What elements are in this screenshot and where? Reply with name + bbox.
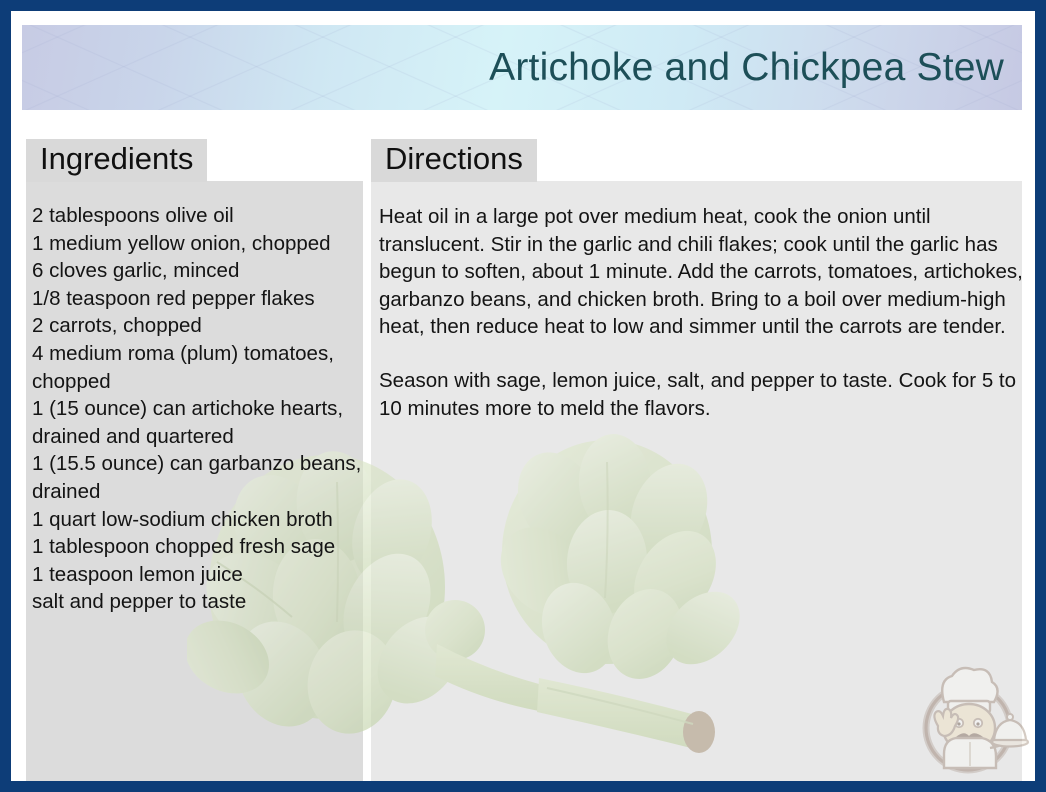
directions-text: Heat oil in a large pot over medium heat… [379, 203, 1027, 422]
ingredient-item: salt and pepper to taste [32, 588, 362, 616]
title-banner: Artichoke and Chickpea Stew [22, 25, 1022, 110]
ingredient-item: 1 (15 ounce) can artichoke hearts, drain… [32, 395, 362, 450]
ingredient-item: 6 cloves garlic, minced [32, 257, 362, 285]
ingredient-item: 4 medium roma (plum) tomatoes, chopped [32, 340, 362, 395]
ingredient-item: 2 carrots, chopped [32, 312, 362, 340]
chef-logo-icon [904, 656, 1032, 784]
recipe-card-page: Artichoke and Chickpea Stew [0, 0, 1046, 792]
ingredient-item: 2 tablespoons olive oil [32, 202, 362, 230]
ingredient-item: 1 teaspoon lemon juice [32, 561, 362, 589]
ingredients-heading: Ingredients [26, 139, 207, 182]
ingredient-item: 1 tablespoon chopped fresh sage [32, 533, 362, 561]
ingredients-list: 2 tablespoons olive oil1 medium yellow o… [32, 202, 362, 616]
direction-paragraph: Heat oil in a large pot over medium heat… [379, 203, 1027, 341]
ingredient-item: 1 medium yellow onion, chopped [32, 230, 362, 258]
directions-heading: Directions [371, 139, 537, 182]
ingredient-item: 1/8 teaspoon red pepper flakes [32, 285, 362, 313]
direction-paragraph: Season with sage, lemon juice, salt, and… [379, 367, 1027, 422]
ingredient-item: 1 quart low-sodium chicken broth [32, 506, 362, 534]
page-title: Artichoke and Chickpea Stew [489, 46, 1004, 90]
ingredient-item: 1 (15.5 ounce) can garbanzo beans, drain… [32, 450, 362, 505]
